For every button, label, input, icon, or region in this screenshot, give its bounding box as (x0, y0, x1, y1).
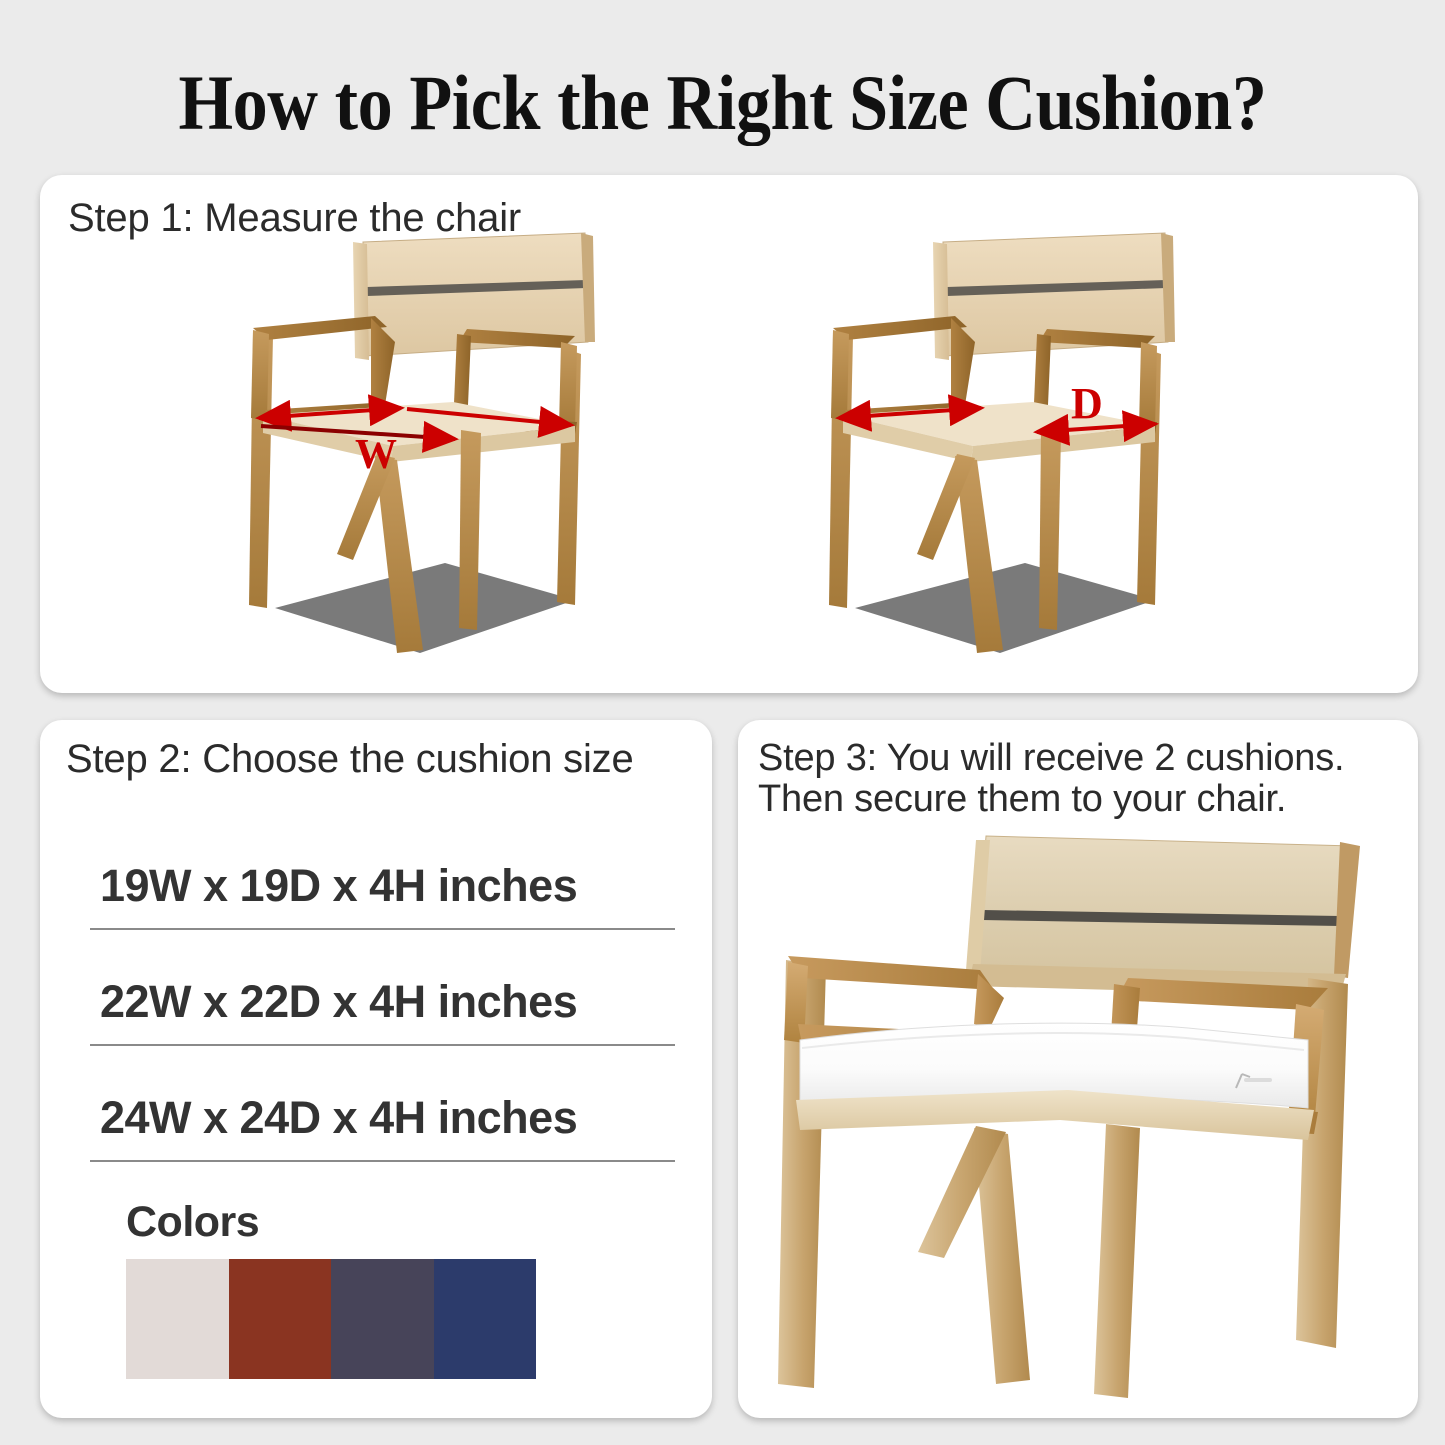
size-option-label: 22W x 22D x 4H inches (100, 976, 577, 1028)
step-2-card: Step 2: Choose the cushion size 19W x 19… (40, 720, 712, 1418)
width-label: W (355, 432, 397, 478)
size-option-19[interactable]: 19W x 19D x 4H inches (90, 850, 675, 966)
step-2-heading: Step 2: Choose the cushion size (66, 738, 634, 781)
color-swatch-cream[interactable] (126, 1259, 229, 1379)
size-divider (90, 1044, 675, 1046)
size-option-label: 24W x 24D x 4H inches (100, 1092, 577, 1144)
step-3-card: Step 3: You will receive 2 cushions. The… (738, 720, 1418, 1418)
colors-section: Colors (126, 1198, 546, 1379)
depth-label: D (1071, 379, 1103, 428)
size-option-22[interactable]: 22W x 22D x 4H inches (90, 966, 675, 1082)
size-divider (90, 928, 675, 930)
color-swatch-strip (126, 1259, 536, 1379)
colors-label: Colors (126, 1198, 546, 1247)
color-swatch-slate-gray[interactable] (331, 1259, 434, 1379)
size-option-label: 19W x 19D x 4H inches (100, 860, 577, 912)
step-1-card: Step 1: Measure the chair (40, 175, 1418, 693)
size-divider (90, 1160, 675, 1162)
chair-width-diagram: W (245, 230, 605, 660)
cushion-size-list: 19W x 19D x 4H inches 22W x 22D x 4H inc… (90, 850, 675, 1198)
step-3-heading: Step 3: You will receive 2 cushions. The… (758, 738, 1344, 819)
color-swatch-navy-blue[interactable] (434, 1259, 537, 1379)
color-swatch-rust-red[interactable] (229, 1259, 332, 1379)
size-option-24[interactable]: 24W x 24D x 4H inches (90, 1082, 675, 1198)
page-title: How to Pick the Right Size Cushion? (72, 58, 1373, 148)
chair-with-cushion-photo (768, 828, 1388, 1408)
chair-depth-diagram: D (825, 230, 1185, 660)
